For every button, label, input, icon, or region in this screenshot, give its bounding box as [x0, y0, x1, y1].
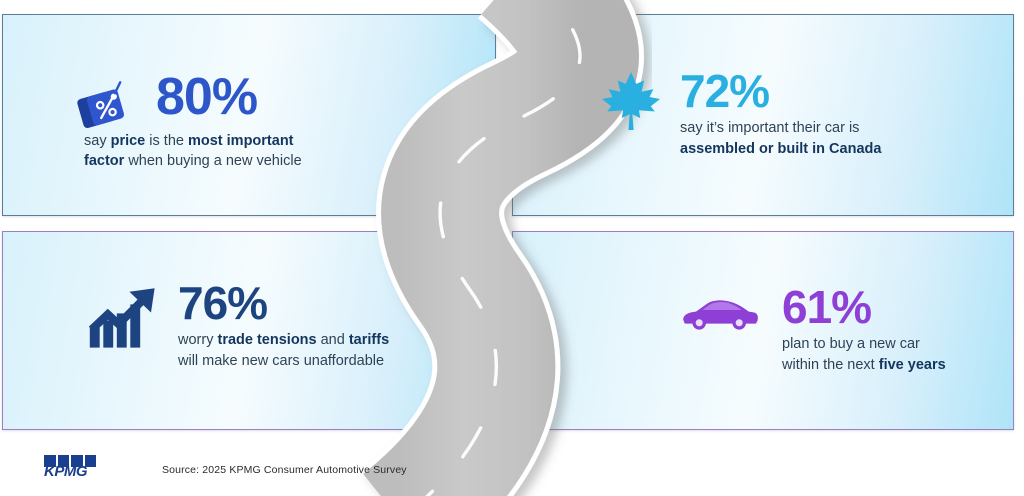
caption-bold: factor — [84, 153, 124, 169]
car-icon — [680, 294, 760, 334]
caption-text: worry — [178, 332, 217, 348]
caption-text: say it’s important their car is — [680, 120, 859, 136]
maple-leaf-icon — [598, 68, 664, 134]
caption-text: within the next — [782, 357, 879, 373]
stat-caption-buy: plan to buy a new car within the next fi… — [782, 334, 946, 375]
stat-value-buy: 61% — [782, 286, 946, 328]
infographic-canvas: 80% say price is the most important fact… — [0, 0, 1024, 496]
caption-bold: price — [111, 133, 146, 149]
caption-text: will make new cars unaffordable — [178, 353, 384, 369]
caption-bold: most important — [188, 133, 294, 149]
caption-text: plan to buy a new car — [782, 336, 920, 352]
caption-text: is the — [145, 133, 188, 149]
stat-caption-tariffs: worry trade tensions and tariffs will ma… — [178, 330, 389, 371]
caption-text: when buying a new vehicle — [124, 153, 301, 169]
caption-text: say — [84, 133, 111, 149]
growth-chart-icon — [88, 284, 160, 350]
stat-caption-canada: say it’s important their car is assemble… — [680, 118, 881, 159]
stat-canada: 72% say it’s important their car is asse… — [598, 68, 881, 159]
caption-bold: five years — [879, 357, 946, 373]
kpmg-logo-wordmark: KPMG — [44, 464, 96, 479]
source-note: Source: 2025 KPMG Consumer Automotive Su… — [162, 464, 407, 476]
footer: KPMG Source: 2025 KPMG Consumer Automoti… — [44, 455, 407, 485]
stat-value-canada: 72% — [680, 70, 881, 112]
caption-bold: trade tensions — [217, 332, 316, 348]
stat-value-tariffs: 76% — [178, 282, 389, 324]
caption-bold: assembled or built in Canada — [680, 141, 881, 157]
caption-bold: tariffs — [349, 332, 389, 348]
stat-caption-price: say price is the most important factor w… — [84, 131, 302, 172]
stat-buy: 61% plan to buy a new car within the nex… — [680, 294, 946, 375]
stat-price: 80% say price is the most important fact… — [76, 78, 302, 172]
stat-value-price: 80% — [156, 74, 302, 122]
kpmg-logo: KPMG — [44, 455, 96, 485]
caption-text: and — [317, 332, 349, 348]
stat-tariffs: 76% worry trade tensions and tariffs wil… — [88, 284, 389, 371]
